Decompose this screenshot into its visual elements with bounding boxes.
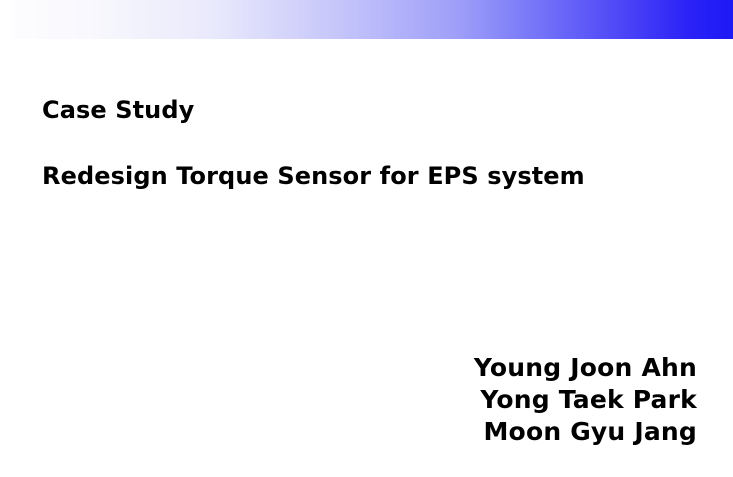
author-list: Young Joon Ahn Yong Taek Park Moon Gyu J… [474, 352, 697, 448]
slide-canvas: Case Study Redesign Torque Sensor for EP… [0, 0, 733, 477]
header-gradient-bar [12, 0, 733, 39]
author-name: Moon Gyu Jang [474, 416, 697, 448]
author-name: Young Joon Ahn [474, 352, 697, 384]
page-title: Case Study [42, 95, 682, 126]
title-block: Case Study [42, 95, 682, 126]
author-name: Yong Taek Park [474, 384, 697, 416]
page-subtitle: Redesign Torque Sensor for EPS system [42, 161, 702, 192]
